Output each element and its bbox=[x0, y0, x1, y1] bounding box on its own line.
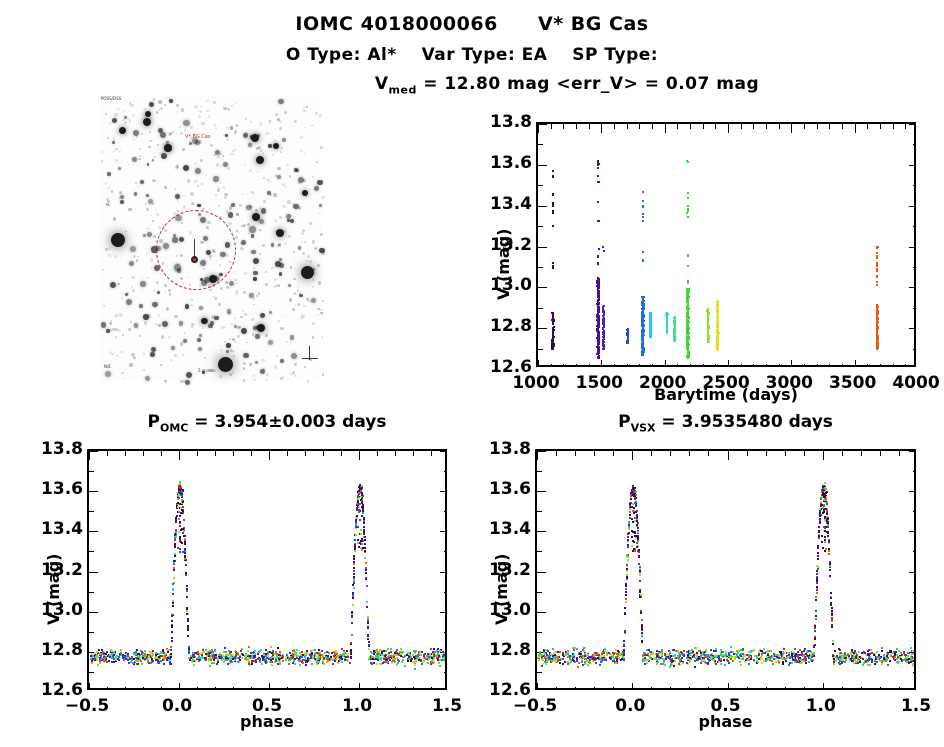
axis-tick bbox=[395, 451, 396, 456]
background-star bbox=[175, 166, 178, 169]
data-point bbox=[597, 348, 599, 350]
axis-tick bbox=[905, 364, 906, 367]
background-star bbox=[265, 271, 267, 273]
background-star bbox=[167, 308, 168, 309]
background-star bbox=[234, 131, 237, 134]
data-point bbox=[807, 655, 809, 657]
data-point bbox=[311, 663, 313, 665]
axis-tick bbox=[913, 144, 916, 145]
data-point bbox=[410, 660, 412, 662]
data-point bbox=[411, 658, 413, 660]
data-point bbox=[169, 661, 171, 663]
data-point bbox=[584, 661, 586, 663]
background-star bbox=[164, 186, 167, 189]
data-point bbox=[103, 652, 105, 654]
data-point bbox=[209, 650, 211, 652]
data-point bbox=[236, 657, 238, 659]
data-point bbox=[174, 543, 176, 545]
data-point bbox=[674, 319, 676, 321]
background-star bbox=[304, 366, 306, 368]
background-star bbox=[266, 373, 269, 376]
axis-tick bbox=[537, 551, 542, 552]
axis-tick bbox=[440, 531, 447, 532]
data-point bbox=[358, 486, 360, 488]
axis-tick bbox=[791, 360, 792, 367]
axis-tick bbox=[689, 451, 690, 456]
background-star bbox=[210, 144, 213, 147]
axis-tick bbox=[556, 687, 557, 690]
data-point bbox=[728, 662, 730, 664]
data-point bbox=[184, 539, 186, 541]
data-point bbox=[109, 654, 111, 656]
background-star bbox=[263, 177, 265, 179]
axis-tick bbox=[703, 364, 704, 367]
background-star bbox=[290, 373, 292, 375]
data-point bbox=[650, 331, 652, 333]
axis-tick bbox=[842, 687, 843, 690]
data-point bbox=[642, 349, 644, 351]
axis-tick bbox=[107, 687, 108, 690]
data-point bbox=[163, 663, 165, 665]
axis-tick bbox=[804, 687, 805, 690]
data-point bbox=[414, 664, 416, 666]
background-star bbox=[129, 363, 133, 367]
axis-tick bbox=[909, 491, 916, 492]
background-star bbox=[224, 196, 226, 198]
data-point bbox=[128, 662, 130, 664]
background-star bbox=[151, 268, 152, 269]
data-point bbox=[385, 657, 387, 659]
axis-tick bbox=[594, 451, 595, 456]
background-star bbox=[139, 148, 141, 150]
axis-tick bbox=[613, 687, 614, 690]
data-point bbox=[431, 660, 433, 662]
axis-tick bbox=[143, 451, 144, 456]
data-point bbox=[230, 660, 232, 662]
background-star bbox=[243, 291, 246, 294]
data-point bbox=[876, 348, 878, 350]
data-point bbox=[137, 653, 139, 655]
background-star bbox=[133, 255, 136, 258]
data-point bbox=[179, 548, 181, 550]
data-point bbox=[363, 520, 365, 522]
survey-tag-label: POSS/DSS bbox=[101, 96, 121, 101]
background-star bbox=[174, 315, 177, 318]
background-star bbox=[218, 205, 221, 208]
data-point bbox=[875, 658, 877, 660]
sp-type-label: SP Type: bbox=[572, 45, 658, 65]
axis-tick bbox=[913, 471, 916, 472]
background-star bbox=[170, 359, 172, 361]
data-point bbox=[358, 511, 360, 513]
data-point bbox=[732, 660, 734, 662]
axis-tick bbox=[614, 364, 615, 367]
data-point bbox=[433, 657, 435, 659]
data-point bbox=[342, 653, 344, 655]
data-point bbox=[723, 659, 725, 661]
data-point bbox=[687, 654, 689, 656]
field-star bbox=[134, 323, 139, 328]
data-point bbox=[346, 659, 348, 661]
axis-tick bbox=[728, 451, 729, 460]
background-star bbox=[227, 167, 230, 170]
data-point bbox=[199, 657, 201, 659]
background-star bbox=[209, 289, 212, 292]
background-star bbox=[182, 148, 185, 151]
field-star bbox=[255, 334, 260, 339]
background-star bbox=[252, 375, 255, 378]
axis-tick bbox=[89, 511, 94, 512]
axis-tick bbox=[341, 451, 342, 456]
field-star bbox=[126, 299, 132, 305]
axis-tick bbox=[215, 451, 216, 456]
axis-tick bbox=[537, 471, 542, 472]
background-star bbox=[128, 328, 131, 331]
axis-tick bbox=[538, 124, 547, 125]
background-star bbox=[198, 115, 201, 118]
axis-tick bbox=[431, 451, 432, 456]
data-point bbox=[761, 662, 763, 664]
data-point bbox=[583, 647, 585, 649]
data-point bbox=[707, 333, 709, 335]
vmed-subscript: med bbox=[389, 83, 417, 96]
data-point bbox=[261, 663, 263, 665]
background-star bbox=[235, 236, 238, 239]
data-point bbox=[887, 664, 889, 666]
background-star bbox=[287, 200, 291, 204]
data-point bbox=[893, 658, 895, 660]
background-star bbox=[137, 186, 138, 187]
data-point bbox=[96, 659, 98, 661]
axis-tick bbox=[909, 612, 916, 613]
data-point bbox=[421, 663, 423, 665]
data-point bbox=[133, 658, 135, 660]
data-point bbox=[266, 657, 268, 659]
data-point bbox=[140, 660, 142, 662]
data-point bbox=[686, 306, 688, 308]
background-star bbox=[261, 125, 262, 126]
field-star bbox=[248, 143, 252, 147]
data-point bbox=[402, 659, 404, 661]
field-star bbox=[199, 306, 203, 310]
background-star bbox=[103, 305, 105, 307]
data-point bbox=[228, 650, 230, 652]
axis-tick bbox=[359, 683, 360, 690]
data-point bbox=[183, 535, 185, 537]
data-point bbox=[360, 533, 362, 535]
data-point bbox=[248, 646, 250, 648]
background-star bbox=[133, 139, 135, 141]
data-point bbox=[597, 263, 599, 265]
field-star bbox=[106, 329, 110, 333]
y-tick-label: 13.4 bbox=[480, 194, 532, 214]
data-point bbox=[276, 653, 278, 655]
data-point bbox=[171, 626, 173, 628]
data-point bbox=[608, 652, 610, 654]
data-point bbox=[387, 661, 389, 663]
background-star bbox=[289, 175, 291, 177]
data-point bbox=[595, 662, 597, 664]
data-point bbox=[552, 193, 554, 195]
field-star bbox=[140, 180, 144, 184]
axis-tick bbox=[909, 287, 916, 288]
background-star bbox=[206, 110, 209, 113]
field-star bbox=[226, 350, 229, 353]
data-point bbox=[688, 338, 690, 340]
data-point bbox=[276, 657, 278, 659]
data-point bbox=[408, 658, 410, 660]
background-star bbox=[107, 137, 109, 139]
background-star bbox=[301, 232, 304, 235]
background-star bbox=[124, 157, 125, 158]
data-point bbox=[862, 664, 864, 666]
data-point bbox=[282, 656, 284, 658]
background-star bbox=[237, 335, 240, 338]
data-point bbox=[167, 649, 169, 651]
background-star bbox=[303, 106, 306, 109]
axis-tick bbox=[708, 451, 709, 456]
data-point bbox=[597, 164, 599, 166]
axis-tick bbox=[538, 267, 543, 268]
data-point bbox=[100, 658, 102, 660]
axis-tick bbox=[537, 572, 546, 573]
background-star bbox=[101, 160, 103, 162]
axis-tick bbox=[444, 471, 447, 472]
data-point bbox=[181, 491, 183, 493]
background-star bbox=[249, 169, 252, 172]
data-point bbox=[162, 650, 164, 652]
background-star bbox=[220, 153, 222, 155]
data-point bbox=[174, 533, 176, 535]
background-star bbox=[322, 373, 324, 375]
background-star bbox=[247, 223, 250, 226]
data-point bbox=[666, 332, 668, 334]
data-point bbox=[188, 648, 190, 650]
data-point bbox=[876, 257, 878, 259]
background-star bbox=[215, 297, 217, 299]
background-star bbox=[306, 106, 309, 109]
background-star bbox=[164, 290, 167, 293]
axis-tick bbox=[842, 364, 843, 367]
background-star bbox=[293, 251, 295, 253]
background-star bbox=[184, 129, 186, 131]
data-point bbox=[185, 564, 187, 566]
axis-tick bbox=[909, 165, 916, 166]
background-star bbox=[132, 114, 135, 117]
data-point bbox=[364, 536, 366, 538]
axis-tick bbox=[538, 247, 547, 248]
background-star bbox=[242, 310, 244, 312]
background-star bbox=[206, 100, 208, 102]
data-point bbox=[642, 346, 644, 348]
data-point bbox=[336, 653, 338, 655]
field-star bbox=[296, 169, 299, 172]
axis-tick bbox=[632, 451, 633, 460]
data-point bbox=[174, 536, 176, 538]
data-point bbox=[642, 213, 644, 215]
axis-tick bbox=[538, 144, 543, 145]
data-point bbox=[113, 661, 115, 663]
axis-tick bbox=[632, 683, 633, 690]
data-point bbox=[620, 659, 622, 661]
target-crosshair-icon bbox=[194, 239, 195, 257]
data-point bbox=[183, 519, 185, 521]
data-point bbox=[686, 160, 688, 162]
axis-tick bbox=[779, 124, 780, 129]
background-star bbox=[125, 231, 127, 233]
data-point bbox=[376, 663, 378, 665]
data-point bbox=[118, 659, 120, 661]
data-point bbox=[889, 660, 891, 662]
axis-tick bbox=[233, 687, 234, 690]
axis-tick bbox=[89, 572, 98, 573]
background-star bbox=[255, 209, 258, 212]
background-star bbox=[239, 280, 241, 282]
data-point bbox=[351, 615, 353, 617]
field-star bbox=[162, 321, 168, 327]
data-point bbox=[177, 502, 179, 504]
data-point bbox=[753, 659, 755, 661]
axis-tick bbox=[893, 124, 894, 129]
background-star bbox=[181, 108, 184, 111]
data-point bbox=[598, 343, 600, 345]
data-point bbox=[876, 310, 878, 312]
axis-tick bbox=[703, 124, 704, 129]
data-point bbox=[294, 655, 296, 657]
data-point bbox=[597, 332, 599, 334]
background-star bbox=[273, 193, 276, 196]
field-star bbox=[241, 240, 246, 245]
axis-tick bbox=[444, 592, 447, 593]
data-point bbox=[361, 538, 363, 540]
data-point bbox=[688, 290, 690, 292]
axis-tick bbox=[89, 531, 98, 532]
background-star bbox=[108, 204, 110, 206]
axis-tick bbox=[537, 683, 538, 690]
background-star bbox=[236, 213, 239, 216]
background-star bbox=[200, 159, 203, 162]
data-point bbox=[673, 336, 675, 338]
background-star bbox=[279, 127, 282, 130]
data-point bbox=[686, 348, 688, 350]
data-point bbox=[151, 655, 153, 657]
data-point bbox=[688, 321, 690, 323]
field-star bbox=[277, 175, 281, 179]
data-point bbox=[347, 656, 349, 658]
field-star bbox=[279, 263, 284, 268]
field-star bbox=[198, 347, 202, 351]
data-point bbox=[373, 662, 375, 664]
data-point bbox=[428, 656, 430, 658]
timeseries-plot-area bbox=[536, 122, 916, 367]
background-star bbox=[129, 102, 132, 105]
axis-tick bbox=[601, 360, 602, 367]
field-star bbox=[120, 200, 124, 204]
axis-tick bbox=[251, 451, 252, 456]
background-star bbox=[187, 179, 190, 182]
data-point bbox=[234, 650, 236, 652]
data-point bbox=[275, 660, 277, 662]
data-point bbox=[597, 277, 599, 279]
background-star bbox=[180, 132, 183, 135]
data-point bbox=[315, 652, 317, 654]
background-star bbox=[277, 167, 280, 170]
data-point bbox=[149, 651, 151, 653]
data-point bbox=[288, 663, 290, 665]
data-point bbox=[596, 337, 598, 339]
data-point bbox=[838, 648, 840, 650]
data-point bbox=[889, 655, 891, 657]
background-star bbox=[263, 152, 265, 154]
data-point bbox=[96, 651, 98, 653]
data-point bbox=[682, 662, 684, 664]
bright-star bbox=[252, 213, 260, 221]
data-point bbox=[650, 334, 652, 336]
data-point bbox=[227, 663, 229, 665]
field-star bbox=[139, 304, 143, 308]
bright-star bbox=[143, 118, 151, 126]
data-point bbox=[108, 660, 110, 662]
background-star bbox=[176, 111, 179, 114]
data-point bbox=[383, 650, 385, 652]
data-point bbox=[173, 577, 175, 579]
data-point bbox=[198, 660, 200, 662]
field-star bbox=[249, 226, 255, 232]
field-star bbox=[246, 205, 252, 211]
background-star bbox=[321, 336, 323, 338]
data-point bbox=[358, 503, 360, 505]
background-star bbox=[319, 309, 322, 312]
vmed-symbol: V bbox=[375, 74, 389, 94]
data-point bbox=[597, 201, 599, 203]
data-point bbox=[553, 336, 555, 338]
y-tick-label: 13.8 bbox=[480, 112, 532, 132]
background-star bbox=[164, 104, 166, 106]
data-point bbox=[367, 622, 369, 624]
background-star bbox=[272, 154, 274, 156]
axis-tick bbox=[689, 687, 690, 690]
background-star bbox=[132, 289, 135, 292]
data-point bbox=[257, 658, 259, 660]
data-point bbox=[279, 651, 281, 653]
data-point bbox=[832, 643, 834, 645]
data-point bbox=[151, 661, 153, 663]
data-point bbox=[372, 658, 374, 660]
background-star bbox=[256, 295, 259, 298]
data-point bbox=[641, 338, 643, 340]
field-star bbox=[228, 212, 233, 217]
data-point bbox=[187, 625, 189, 627]
data-point bbox=[135, 660, 137, 662]
data-point bbox=[368, 641, 370, 643]
phase-omc-title: POMC = 3.954±0.003 days bbox=[87, 412, 447, 434]
data-point bbox=[687, 216, 689, 218]
background-star bbox=[232, 150, 234, 152]
data-point bbox=[186, 608, 188, 610]
data-point bbox=[642, 200, 644, 202]
axis-tick bbox=[867, 364, 868, 367]
background-star bbox=[149, 131, 151, 133]
target-name-label: V* BG Cas bbox=[185, 134, 210, 140]
data-point bbox=[98, 649, 100, 651]
data-point bbox=[602, 318, 604, 320]
background-star bbox=[131, 276, 134, 279]
data-point bbox=[299, 660, 301, 662]
background-star bbox=[311, 125, 313, 127]
field-star bbox=[226, 343, 231, 348]
axis-tick bbox=[89, 612, 98, 613]
data-point bbox=[260, 649, 262, 651]
